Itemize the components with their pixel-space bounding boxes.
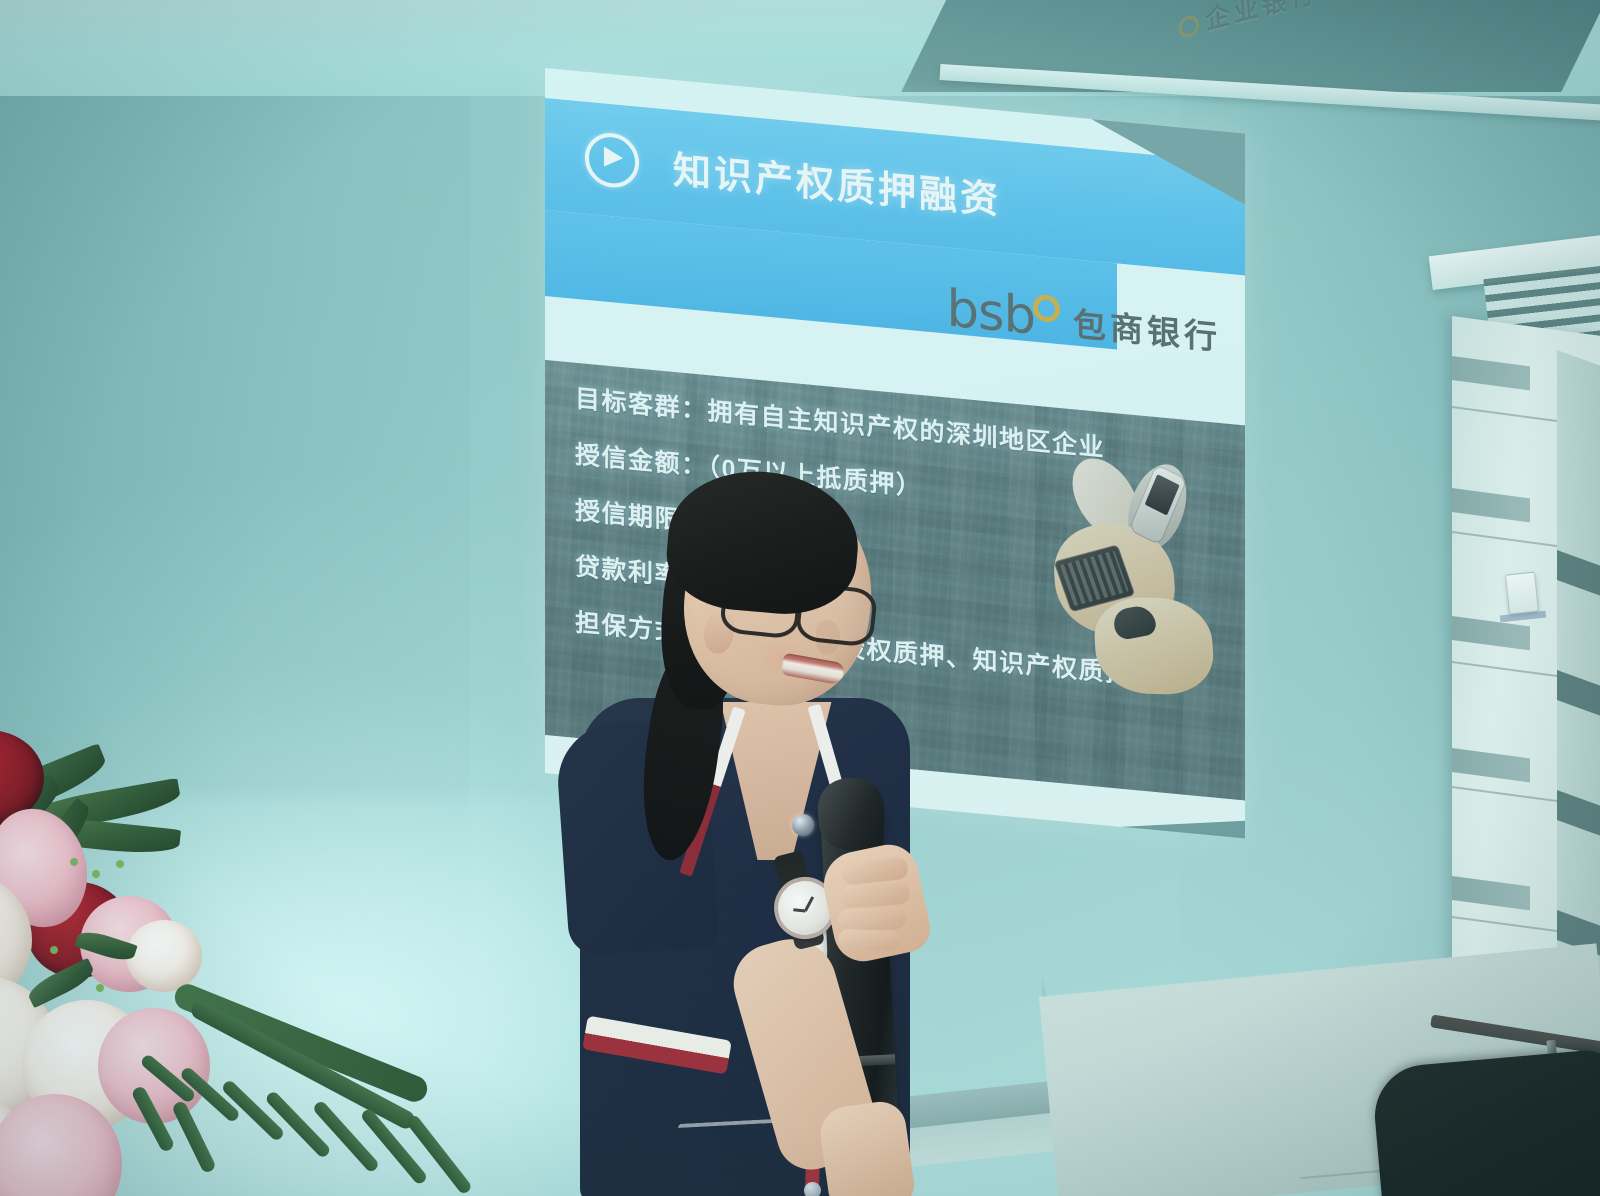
play-circle-icon <box>585 131 639 190</box>
photo-scene: 企业银行 知识产权质押融资 <box>0 0 1600 1196</box>
presenter <box>560 470 990 1196</box>
microphone-head <box>816 777 886 852</box>
hair <box>662 464 863 620</box>
hand-lower <box>817 1099 917 1196</box>
brooch <box>792 814 814 836</box>
rose-white <box>126 920 202 992</box>
hands-typing-image <box>1046 455 1227 695</box>
slide-title: 知识产权质押融资 <box>673 138 1001 224</box>
logo-wordmark: bsb <box>947 284 1035 343</box>
watch-hand <box>793 908 805 912</box>
flower-arrangement <box>0 700 550 1196</box>
logo-ring-icon <box>1033 294 1060 324</box>
watch-hand <box>804 896 814 912</box>
wall-light-switch[interactable] <box>1505 572 1539 615</box>
sign-dot-icon <box>1178 13 1200 39</box>
office-chair <box>1371 1047 1600 1196</box>
